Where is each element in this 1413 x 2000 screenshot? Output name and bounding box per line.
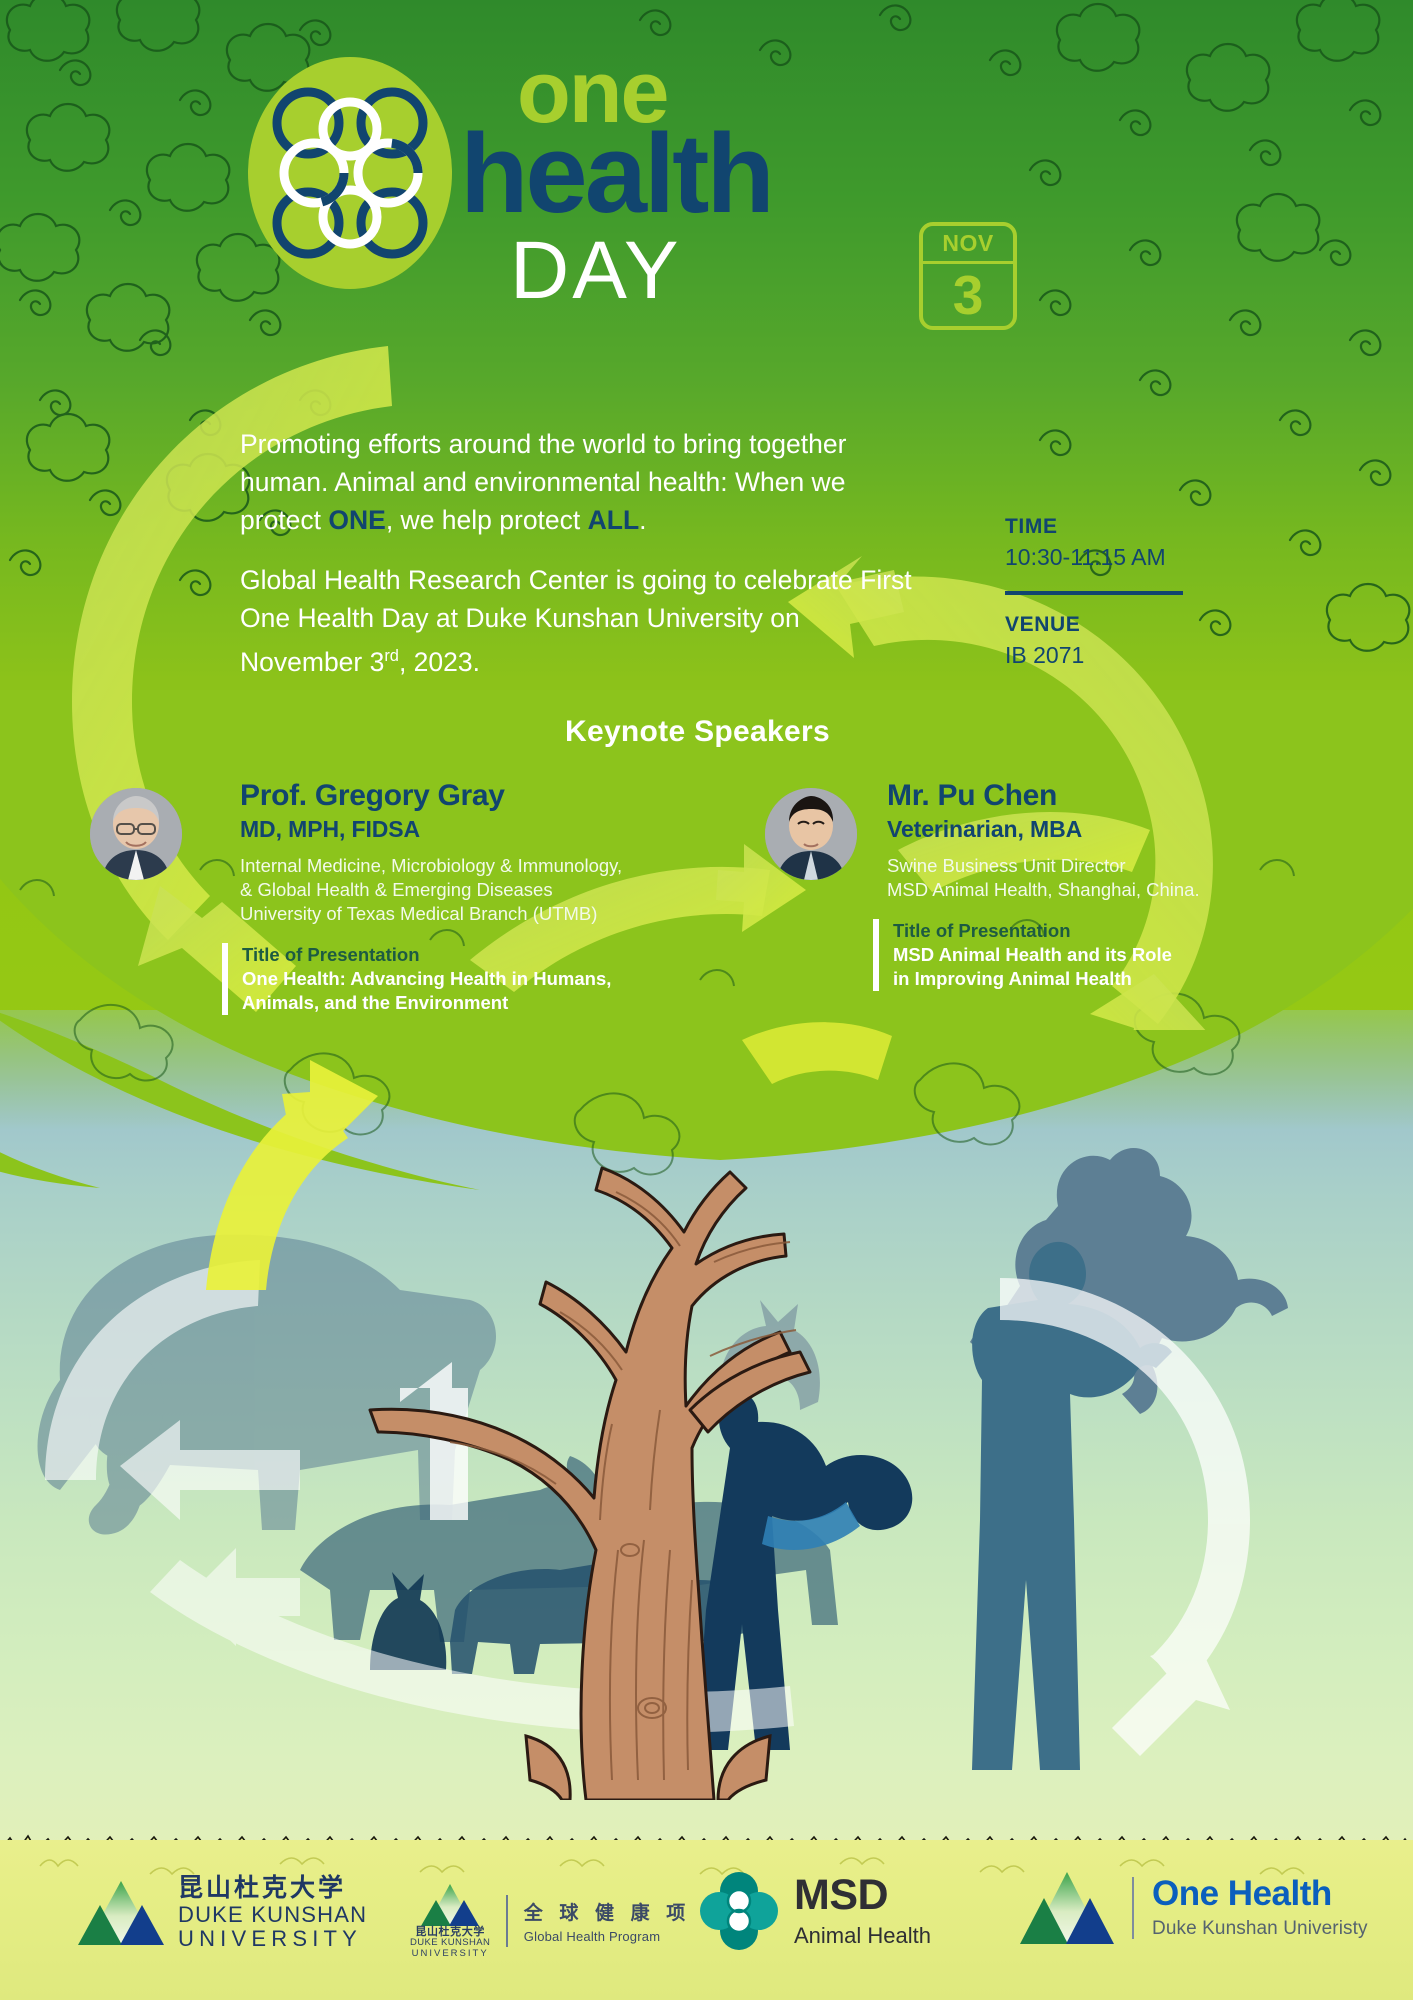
logo-msd-animal-health: MSD Animal Health (700, 1872, 931, 1950)
speaker-1-name: Prof. Gregory Gray (240, 780, 650, 812)
footer-logos: 昆山杜克大学 DUKE KUNSHAN UNIVERSITY (0, 1850, 1413, 2000)
ghp-dku-english-2: UNIVERSITY (412, 1949, 489, 1959)
logo-duke-kunshan-university: 昆山杜克大学 DUKE KUNSHAN UNIVERSITY (78, 1874, 367, 1951)
speaker-1-credentials: MD, MPH, FIDSA (240, 816, 650, 843)
wordmark-day: DAY (510, 230, 682, 312)
one-health-day-wordmark: one health DAY (460, 52, 890, 292)
dku-english-line-1: DUKE KUNSHAN (178, 1903, 367, 1927)
speaker-1-affiliation-line-2: & Global Health & Emerging Diseases (240, 878, 650, 902)
wordmark-health: health (460, 124, 772, 225)
ordinal-suffix: rd (384, 647, 399, 665)
speaker-1-affiliation: Internal Medicine, Microbiology & Immuno… (240, 854, 650, 926)
speaker-1-talk-line-2: Animals, and the Environment (242, 991, 650, 1015)
time-value: 10:30-11:15 AM (1005, 544, 1205, 571)
emphasis-all: ALL (588, 505, 640, 535)
details-divider (1005, 591, 1183, 595)
calendar-badge: NOV 3 (919, 222, 1017, 330)
intro-paragraph-2: Global Health Research Center is going t… (240, 561, 920, 681)
ghp-dku-english-1: DUKE KUNSHAN (410, 1938, 490, 1948)
speaker-2-talk-line-2: in Improving Animal Health (893, 967, 1325, 991)
calendar-day: 3 (953, 264, 984, 326)
speaker-1-affiliation-line-1: Internal Medicine, Microbiology & Immuno… (240, 854, 650, 878)
one-health-circles-icon (248, 57, 453, 289)
speaker-1-affiliation-line-3: University of Texas Medical Branch (UTMB… (240, 902, 650, 926)
dku-english-line-2: UNIVERSITY (178, 1927, 367, 1951)
recycle-arrows-lower-yellow (0, 1000, 1413, 1760)
msd-wordmark: MSD (794, 1874, 931, 1917)
ghp-program-english: Global Health Program (524, 1929, 726, 1944)
speaker-2-credentials: Veterinarian, MBA (887, 816, 1325, 843)
venue-label: VENUE (1005, 613, 1205, 637)
emphasis-one: ONE (328, 505, 385, 535)
speaker-2-talk: Title of Presentation MSD Animal Health … (873, 919, 1325, 991)
speaker-2-name: Mr. Pu Chen (887, 780, 1325, 812)
ghp-mountain-icon (421, 1884, 479, 1926)
one-health-subtitle: Duke Kunshan Univeristy (1152, 1918, 1368, 1940)
speaker-card-2: Mr. Pu Chen Veterinarian, MBA Swine Busi… (765, 780, 1325, 991)
event-details: TIME 10:30-11:15 AM VENUE IB 2071 (1005, 515, 1205, 669)
speaker-2-affiliation-line-1: Swine Business Unit Director (887, 854, 1325, 878)
speaker-2-affiliation-line-2: MSD Animal Health, Shanghai, China. (887, 878, 1325, 902)
msd-clover-icon (700, 1872, 778, 1950)
ghp-divider (506, 1895, 508, 1947)
intro-paragraph-1: Promoting efforts around the world to br… (240, 425, 920, 539)
calendar-month: NOV (923, 226, 1013, 264)
speaker-1-talk-label: Title of Presentation (242, 943, 650, 967)
dku-mountain-icon (78, 1881, 164, 1945)
logo-one-health-dku: One Health Duke Kunshan Univeristy (1020, 1872, 1368, 1944)
speaker-2-talk-line-1: MSD Animal Health and its Role (893, 943, 1325, 967)
ghp-program-chinese: 全 球 健 康 项 目 (524, 1898, 726, 1925)
one-health-day-poster: one health DAY NOV 3 Promoting efforts a… (0, 0, 1413, 2000)
avatar-gregory-gray (90, 788, 182, 880)
speaker-2-affiliation: Swine Business Unit Director MSD Animal … (887, 854, 1325, 902)
keynote-speakers-heading: Keynote Speakers (565, 715, 830, 749)
avatar-pu-chen (765, 788, 857, 880)
venue-value: IB 2071 (1005, 642, 1205, 669)
speaker-1-talk: Title of Presentation One Health: Advanc… (222, 943, 650, 1015)
speaker-card-1: Prof. Gregory Gray MD, MPH, FIDSA Intern… (90, 780, 650, 1015)
one-health-title: One Health (1152, 1876, 1368, 1911)
speaker-1-talk-line-1: One Health: Advancing Health in Humans, (242, 967, 650, 991)
one-health-mountain-icon (1020, 1872, 1114, 1944)
speaker-2-talk-label: Title of Presentation (893, 919, 1325, 943)
intro-text-block: Promoting efforts around the world to br… (240, 425, 920, 681)
time-label: TIME (1005, 515, 1205, 539)
logo-global-health-program: 昆山杜克大学 DUKE KUNSHAN UNIVERSITY 全 球 健 康 项… (410, 1884, 726, 1959)
msd-subtitle: Animal Health (794, 1923, 931, 1949)
dku-chinese-name: 昆山杜克大学 (178, 1874, 367, 1903)
one-health-divider (1132, 1877, 1134, 1939)
